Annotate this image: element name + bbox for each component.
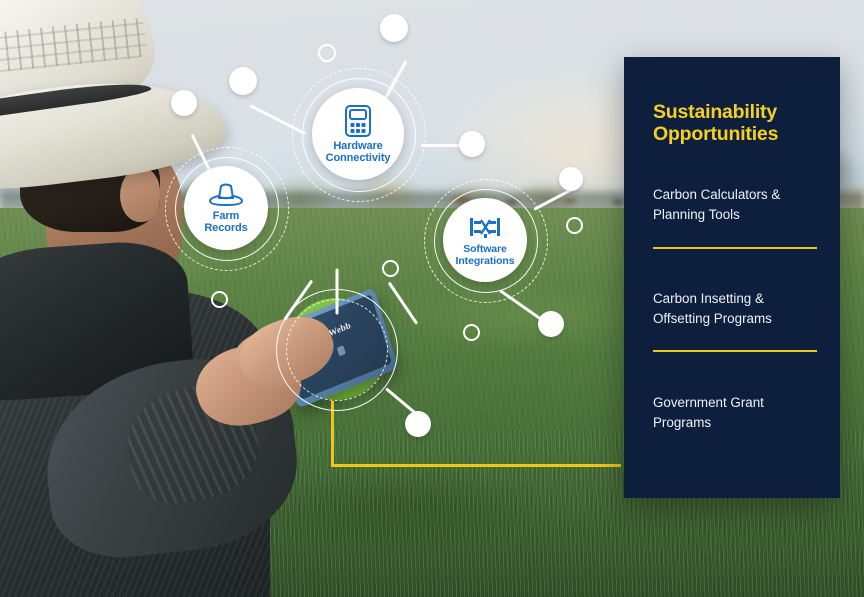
list-item-line2: Planning Tools — [653, 207, 740, 222]
list-item[interactable]: Carbon Calculators & Planning Tools — [653, 185, 816, 225]
list-item-line2: Programs — [653, 415, 711, 430]
bracket-horizontal — [331, 464, 621, 467]
list-item[interactable]: Carbon Insetting & Offsetting Programs — [653, 289, 816, 329]
list-item[interactable]: Government Grant Programs — [653, 393, 816, 433]
panel-title-line2: Opportunities — [653, 123, 778, 145]
list-divider — [653, 247, 817, 249]
opportunity-list: Carbon Calculators & Planning Tools Carb… — [624, 185, 840, 433]
slide-canvas: AgriWebb — [0, 0, 864, 597]
list-item-line1: Carbon Calculators & — [653, 187, 780, 202]
list-item-line1: Government Grant — [653, 395, 764, 410]
list-divider — [653, 350, 817, 352]
sustainability-panel: Sustainability Opportunities Carbon Calc… — [624, 57, 840, 498]
panel-title: Sustainability Opportunities — [653, 101, 814, 145]
list-item-line2: Offsetting Programs — [653, 311, 772, 326]
panel-title-line1: Sustainability — [653, 101, 777, 123]
list-item-line1: Carbon Insetting & — [653, 291, 764, 306]
bracket-vertical — [331, 401, 334, 466]
